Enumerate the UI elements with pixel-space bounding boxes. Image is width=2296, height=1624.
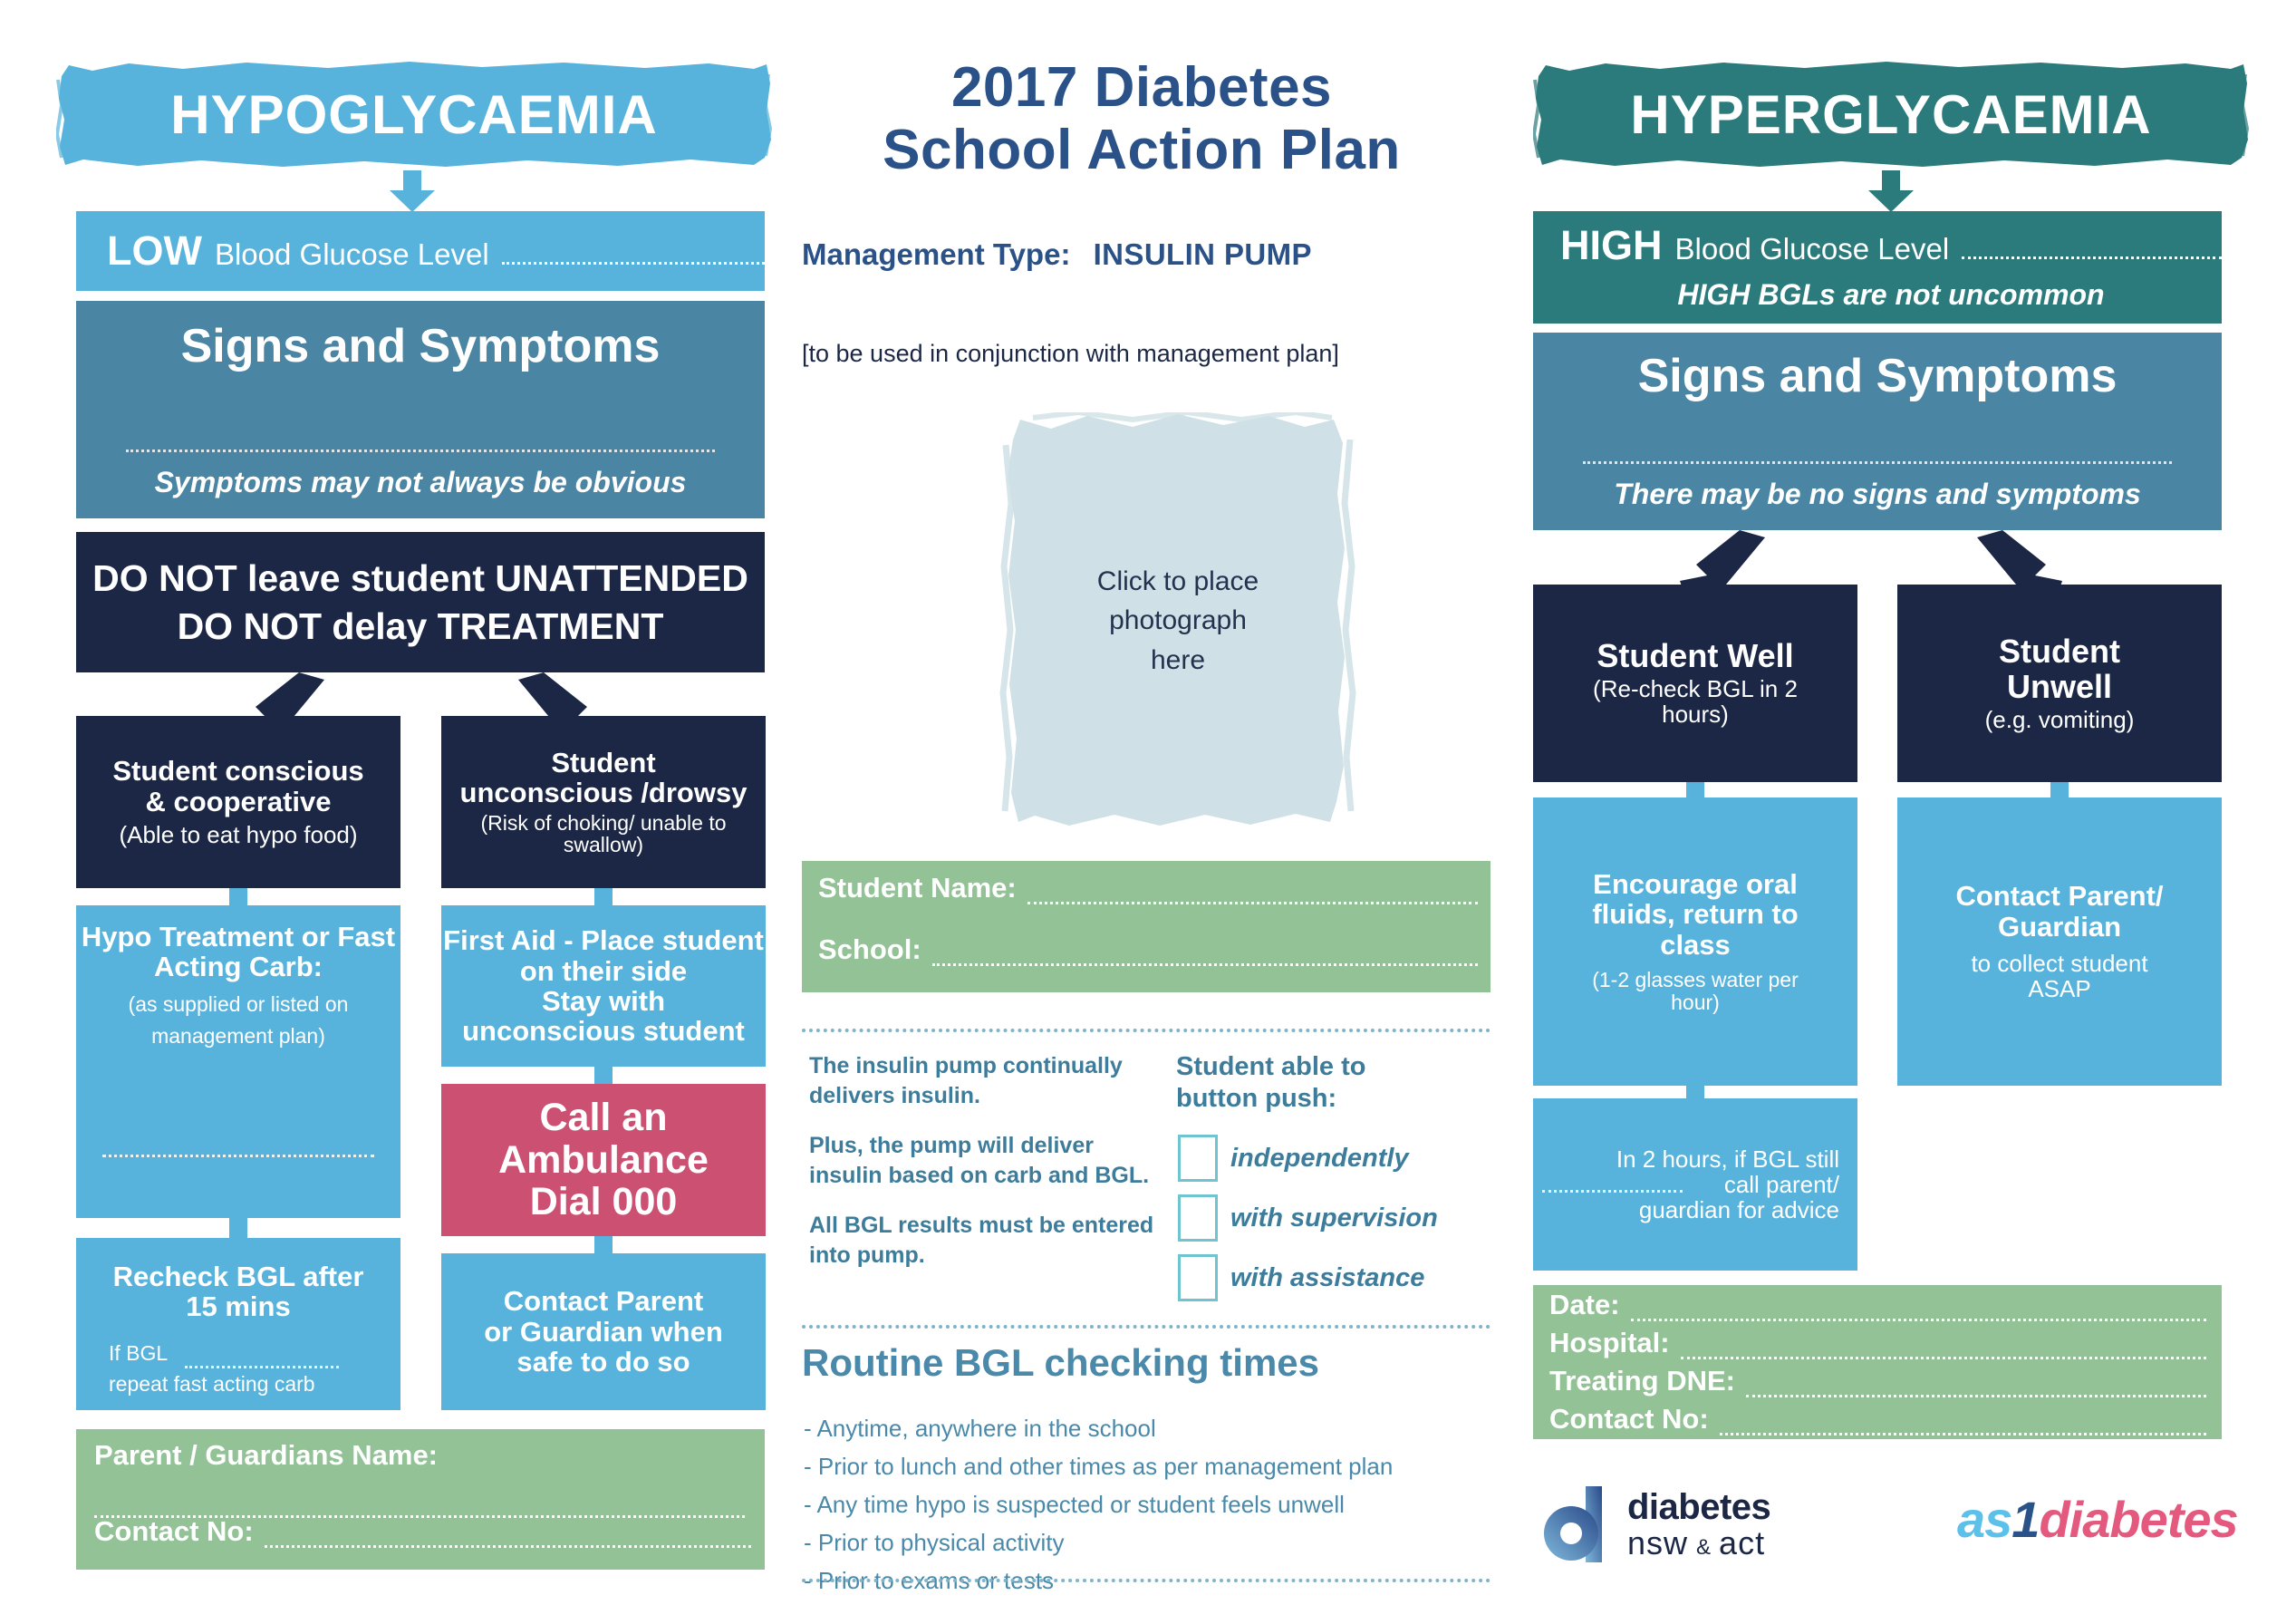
hyper-fluids-box: Encourage oral fluids, return to class (… [1533,797,1857,1086]
management-type-label: Management Type: [802,237,1070,271]
checkbox-with-supervision[interactable] [1178,1194,1218,1242]
hypo-conscious-line2: & cooperative [145,787,331,817]
checkbox-row-with-supervision[interactable]: with supervision [1178,1194,1438,1242]
hyper-twohours-blank-line[interactable] [1542,1190,1683,1193]
date-input[interactable] [1631,1295,2206,1321]
routine-bgl-list: - Anytime, anywhere in the school - Prio… [804,1409,1492,1600]
as1-logo-diabetes: diabetes [2039,1491,2237,1548]
date-row: Date: [1549,1289,2206,1321]
routine-bgl-title: Routine BGL checking times [802,1341,1319,1385]
hypo-signs-title: Signs and Symptoms [181,321,661,372]
hyper-fluids-sub1: (1-2 glasses water per [1592,969,1799,991]
hypo-unconscious-line1: Student [551,748,655,778]
hyper-unwell-title2: Unwell [2007,670,2112,705]
hyper-contact-no-label: Contact No: [1549,1403,1709,1435]
hypo-bgl-blank-line[interactable] [502,240,765,265]
hyper-signs-box: Signs and Symptoms There may be no signs… [1533,333,2222,530]
photo-placeholder-text: Click to place photograph here [997,412,1359,829]
treating-dne-label: Treating DNE: [1549,1365,1735,1397]
hypo-recheck-sub2: repeat fast acting carb [109,1373,315,1396]
checkbox-with-assistance-label: with assistance [1230,1263,1424,1293]
hypoglycaemia-banner: HYPOGLYCAEMIA [56,56,772,172]
hyper-well-title: Student Well [1597,639,1793,674]
hypo-firstaid-box: First Aid - Place student on their side … [441,905,766,1067]
as1-logo-one: 1 [2011,1491,2039,1548]
hypo-treatment-line1: Hypo Treatment or Fast [82,922,395,952]
management-type-value: INSULIN PUMP [1094,237,1312,271]
hypo-contact-no-label: Contact No: [94,1515,254,1548]
hypo-conscious-sub: (Able to eat hypo food) [119,822,357,847]
hypo-firstaid-l4: unconscious student [462,1016,745,1046]
student-name-label: Student Name: [818,872,1017,904]
photo-text-l3: here [1151,641,1205,681]
hyper-fluids-sub2: hour) [1671,991,1720,1014]
student-name-row: Student Name: [818,872,1478,904]
hypo-ambulance-l2: Ambulance [498,1139,709,1181]
hyper-student-well-box: Student Well (Re-check BGL in 2 hours) [1533,585,1857,782]
button-push-l1: Student able to [1176,1051,1475,1083]
hyper-well-sub2: hours) [1662,701,1729,727]
diabetes-logo-nsw: nsw [1627,1526,1688,1561]
as1diabetes-logo: as1diabetes [1957,1490,2238,1549]
diabetes-logo-amp: & [1696,1536,1711,1559]
school-row: School: [818,933,1478,966]
conjunction-note: [to be used in conjunction with manageme… [802,340,1339,368]
hypo-ambulance-l1: Call an [540,1097,668,1138]
pump-para-0: The insulin pump continually delivers in… [809,1051,1162,1111]
hyper-contact-sub2: ASAP [2028,976,2090,1001]
hypo-recheck-sub1: If BGL [109,1342,168,1365]
photo-placeholder[interactable]: Click to place photograph here [997,412,1359,829]
hyper-unwell-title1: Student [1999,634,2120,670]
hypo-treatment-sub2: management plan) [151,1025,325,1048]
photo-text-l2: photograph [1109,601,1247,641]
treating-dne-row: Treating DNE: [1549,1365,2206,1397]
divider-below-routine [802,1579,1490,1582]
pump-para-2: All BGL results must be entered into pum… [809,1211,1162,1271]
management-type-row: Management Type: INSULIN PUMP [802,237,1312,272]
hyper-signs-note: There may be no signs and symptoms [1614,478,2140,510]
hyper-fluids-l1: Encourage oral [1593,869,1798,899]
photo-text-l1: Click to place [1097,562,1259,602]
hypo-treatment-box: Hypo Treatment or Fast Acting Carb: (as … [76,905,400,1218]
hyper-two-hours-box: In 2 hours, if BGL still call parent/ gu… [1533,1098,1857,1271]
pump-para-1: Plus, the pump will deliver insulin base… [809,1131,1162,1191]
hyperglycaemia-banner-label: HYPERGLYCAEMIA [1630,83,2151,146]
date-label: Date: [1549,1289,1620,1321]
hypo-contact-no-input[interactable] [265,1522,751,1548]
hyper-bgl-note: HIGH BGLs are not uncommon [1560,279,2249,311]
checkbox-with-assistance[interactable] [1178,1254,1218,1301]
hypo-bgl-strong: LOW [107,229,202,274]
hypoglycaemia-banner-label: HYPOGLYCAEMIA [170,83,658,146]
connector-hypo-left-1 [229,888,247,906]
hypo-firstaid-l1: First Aid - Place student [443,925,764,955]
connector-hypo-right-3 [594,1236,613,1254]
hospital-input[interactable] [1681,1333,2206,1359]
hyper-bgl-box: HIGH Blood Glucose Level HIGH BGLs are n… [1533,211,2222,324]
hypo-recheck-blank-line[interactable] [185,1366,339,1368]
hyper-contact-no-row: Contact No: [1549,1403,2206,1435]
hyper-twohours-l1: In 2 hours, if BGL still [1616,1146,1839,1172]
routine-item-0: - Anytime, anywhere in the school [804,1409,1492,1447]
hyper-fluids-l3: class [1660,930,1731,960]
hypo-bgl-rest: Blood Glucose Level [215,238,489,271]
insulin-pump-info: The insulin pump continually delivers in… [809,1051,1162,1290]
hypo-bgl-box: LOW Blood Glucose Level [76,211,765,291]
routine-item-2: - Any time hypo is suspected or student … [804,1485,1492,1523]
hypo-contact-l2: or Guardian when [484,1317,723,1347]
hypo-contact-l1: Contact Parent [504,1286,703,1316]
school-input[interactable] [932,940,1478,966]
hypo-contact-parent-box: Contact Parent or Guardian when safe to … [441,1253,766,1410]
hypo-firstaid-l2: on their side [520,956,687,986]
hyper-bgl-strong: HIGH [1560,224,1663,268]
hypo-contact-no-row: Contact No: [94,1515,751,1548]
hyper-contact-l1: Contact Parent/ [1955,881,2163,911]
school-label: School: [818,933,921,966]
hypo-conscious-line1: Student conscious [112,756,363,786]
divider-above-routine [802,1325,1490,1329]
button-push-l2: button push: [1176,1083,1475,1115]
student-name-input[interactable] [1027,878,1478,904]
hypo-ambulance-box: Call an Ambulance Dial 000 [441,1084,766,1236]
arrow-down-icon-hyper [1859,170,1923,212]
hyper-twohours-l3: guardian for advice [1639,1197,1839,1223]
hypo-treatment-blank-line[interactable] [102,1155,374,1157]
hypo-treatment-sub1: (as supplied or listed on [129,993,349,1016]
divider-above-pump [802,1029,1490,1032]
hyperglycaemia-banner: HYPERGLYCAEMIA [1533,56,2249,172]
checkbox-independently-label: independently [1230,1144,1409,1174]
hyper-student-unwell-box: Student Unwell (e.g. vomiting) [1897,585,2222,782]
hypo-recheck-box: Recheck BGL after 15 mins If BGL repeat … [76,1238,400,1410]
hypo-unconscious-line2: unconscious /drowsy [460,778,748,807]
hypo-conscious-box: Student conscious & cooperative (Able to… [76,716,400,888]
hypo-unconscious-sub2: swallow) [564,834,643,856]
hyper-contact-parent-box: Contact Parent/ Guardian to collect stud… [1897,797,2222,1086]
connector-hypo-right-1 [594,888,613,906]
hypo-ambulance-l3: Dial 000 [530,1181,678,1223]
button-push-heading: Student able to button push: [1176,1051,1475,1116]
parent-name-row: Parent / Guardians Name: [94,1439,751,1472]
hypo-signs-note: Symptoms may not always be obvious [155,467,687,498]
hyper-bgl-rest: Blood Glucose Level [1675,233,1950,266]
connector-hypo-right-2 [594,1067,613,1085]
arrow-down-icon-hypo [381,170,444,212]
diabetes-nsw-act-logo: diabetes nsw & act [1529,1483,1770,1566]
checkbox-row-with-assistance[interactable]: with assistance [1178,1254,1424,1301]
page-title: 2017 Diabetes School Action Plan [797,56,1486,182]
page-title-line2: School Action Plan [797,119,1486,181]
hyper-contact-no-input[interactable] [1720,1409,2206,1435]
hyper-fluids-l2: fluids, return to [1592,899,1798,929]
diabetes-d-mark-icon [1529,1483,1613,1566]
hyper-bgl-blank-line[interactable] [1962,235,2222,259]
routine-item-1: - Prior to lunch and other times as per … [804,1447,1492,1485]
hypo-warning-box: DO NOT leave student UNATTENDED DO NOT d… [76,532,765,672]
connector-hypo-left-2 [229,1218,247,1238]
hyper-well-sub1: (Re-check BGL in 2 [1593,676,1798,701]
hyper-signs-title: Signs and Symptoms [1638,351,2118,401]
diabetes-logo-act: act [1719,1526,1765,1561]
checkbox-row-independently[interactable]: independently [1178,1135,1409,1182]
page-title-line1: 2017 Diabetes [797,56,1486,119]
as1-logo-as: as [1957,1491,2011,1548]
hypo-unconscious-box: Student unconscious /drowsy (Risk of cho… [441,716,766,888]
hypo-warning-line2: DO NOT delay TREATMENT [178,606,664,646]
checkbox-independently[interactable] [1178,1135,1218,1182]
diabetes-logo-word1: diabetes [1627,1488,1770,1526]
checkbox-with-supervision-label: with supervision [1230,1203,1438,1233]
hypo-treatment-line2: Acting Carb: [154,952,323,981]
hypo-unconscious-sub1: (Risk of choking/ unable to [480,812,726,835]
hypo-contact-l3: safe to do so [516,1347,690,1377]
hospital-label: Hospital: [1549,1327,1670,1359]
hyper-contact-l2: Guardian [1998,912,2121,942]
hyper-unwell-sub: (e.g. vomiting) [1985,707,2135,732]
routine-item-3: - Prior to physical activity [804,1523,1492,1561]
hospital-row: Hospital: [1549,1327,2206,1359]
hyper-twohours-l2: call parent/ [1724,1172,1839,1197]
treating-dne-input[interactable] [1746,1371,2206,1397]
hypo-warning-line1: DO NOT leave student UNATTENDED [92,558,748,598]
diabetes-school-action-plan: HYPOGLYCAEMIA LOW Blood Glucose Level Si… [0,0,2296,1624]
hypo-signs-box: Signs and Symptoms Symptoms may not alwa… [76,301,765,518]
hyper-contact-sub1: to collect student [1971,951,2147,976]
parent-name-label: Parent / Guardians Name: [94,1439,438,1472]
hypo-recheck-l1: Recheck BGL after [113,1261,364,1291]
hypo-recheck-l2: 15 mins [186,1291,290,1321]
hypo-firstaid-l3: Stay with [542,986,665,1016]
